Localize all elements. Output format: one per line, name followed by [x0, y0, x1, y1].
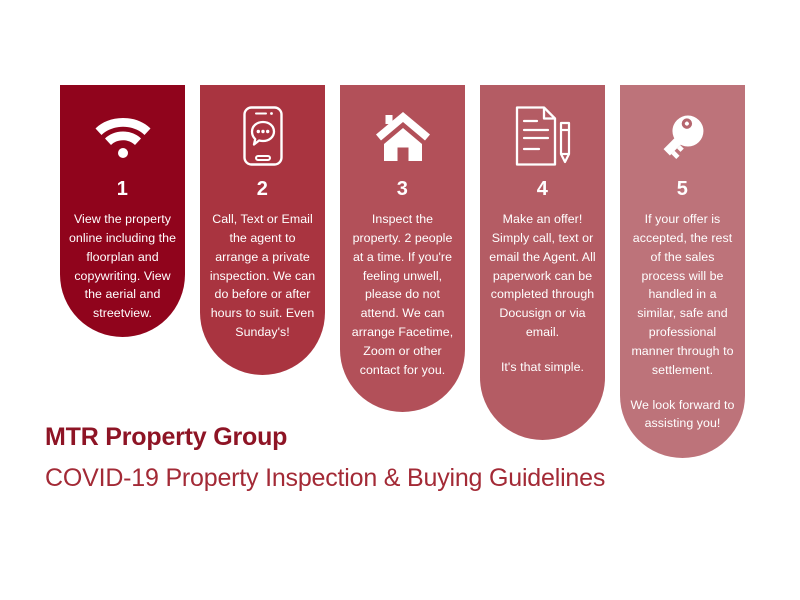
step-column-4: 4 Make an offer! Simply call, text or em…: [480, 85, 605, 440]
step-text: Inspect the property. 2 people at a time…: [348, 210, 457, 380]
house-icon: [374, 105, 432, 167]
step-number: 5: [677, 179, 688, 199]
step-text: If your offer is accepted, the rest of t…: [628, 210, 737, 380]
document-pen-icon: [514, 105, 572, 167]
brand-title: MTR Property Group: [45, 424, 605, 452]
step-column-1: 1 View the property online including the…: [60, 85, 185, 337]
key-icon: [656, 105, 710, 167]
step-number: 2: [257, 179, 268, 199]
step-text-secondary: It's that simple.: [501, 358, 584, 377]
covid-guidelines-infographic: 1 View the property online including the…: [0, 0, 800, 600]
steps-container: 1 View the property online including the…: [60, 85, 745, 458]
page-subtitle: COVID-19 Property Inspection & Buying Gu…: [45, 465, 605, 493]
step-text: Make an offer! Simply call, text or emai…: [488, 210, 597, 342]
step-column-3: 3 Inspect the property. 2 people at a ti…: [340, 85, 465, 412]
mobile-chat-icon: [242, 105, 284, 167]
title-block: MTR Property Group COVID-19 Property Ins…: [45, 424, 605, 492]
step-text: Call, Text or Email the agent to arrange…: [208, 210, 317, 342]
step-text: View the property online including the f…: [68, 210, 177, 323]
step-column-2: 2 Call, Text or Email the agent to arran…: [200, 85, 325, 375]
step-column-5: 5 If your offer is accepted, the rest of…: [620, 85, 745, 458]
wifi-icon: [95, 105, 151, 167]
step-number: 3: [397, 179, 408, 199]
step-number: 4: [537, 179, 548, 199]
step-text-secondary: We look forward to assisting you!: [628, 396, 737, 434]
step-number: 1: [117, 179, 128, 199]
